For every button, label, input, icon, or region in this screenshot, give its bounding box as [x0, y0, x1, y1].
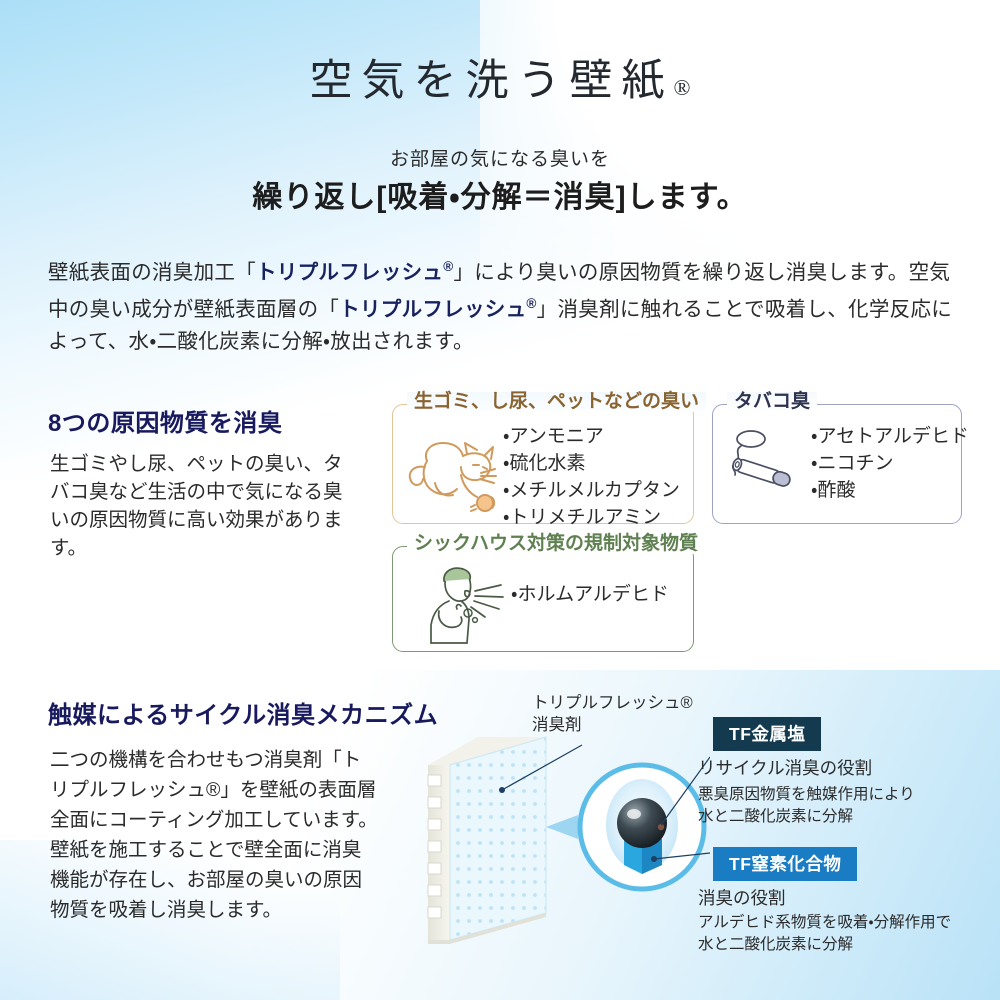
cause-box-waste-pets-legend: 生ゴミ、し尿、ペットなどの臭い [407, 392, 706, 412]
list-item: ・ニコチン [811, 450, 969, 477]
brand-name-2: トリプルフレッシュ [339, 298, 526, 321]
registered-mark-icon: ® [674, 75, 691, 100]
coughing-person-icon [411, 563, 507, 647]
list-item: ・硫化水素 [503, 450, 680, 477]
list-item: ・酢酸 [811, 477, 969, 504]
role-tf-metal-salt: リサイクル消臭の役割 [698, 756, 872, 780]
section-body-mechanism: 二つの機構を合わせもつ消臭剤「トリプルフレッシュ®」を壁紙の表面層全面にコーティ… [50, 745, 380, 925]
cause-box-sick-house: シックハウス対策の規制対象物質 [392, 546, 694, 652]
list-item: ・アセトアルデヒド [811, 423, 969, 450]
registered-mark-icon: ® [443, 259, 453, 274]
desc-line: 悪臭原因物質を触媒作用により [698, 784, 915, 806]
desc-tf-nitrogen-compound: アルデヒド系物質を吸着・分解作用で 水と二酸化炭素に分解 [698, 912, 951, 956]
desc-line: アルデヒド系物質を吸着・分解作用で [698, 912, 951, 934]
cause-box-tobacco-legend: タバコ臭 [727, 392, 817, 412]
diagram-caption: トリプルフレッシュ® 消臭剤 [532, 692, 693, 736]
section-body-causes: 生ゴミやし尿、ペットの臭い、タバコ臭など生活の中で気になる臭いの原因物質に高い効… [50, 450, 350, 562]
cause-box-sick-house-items: ・ホルムアルデヒド [511, 581, 669, 608]
page-title: 空気を洗う壁紙® [0, 46, 1000, 108]
list-item: ・ホルムアルデヒド [511, 581, 669, 608]
cause-box-sick-house-legend: シックハウス対策の規制対象物質 [407, 534, 705, 554]
diagram-caption-line2: 消臭剤 [532, 714, 693, 736]
mechanism-diagram: トリプルフレッシュ® 消臭剤 [410, 690, 1000, 980]
desc-line: 水と二酸化炭素に分解 [698, 806, 915, 828]
role-tf-nitrogen-compound: 消臭の役割 [698, 886, 786, 910]
section-heading-causes: 8つの原因物質を消臭 [48, 403, 282, 438]
list-item: ・トリメチルアミン [503, 504, 680, 531]
desc-tf-metal-salt: 悪臭原因物質を触媒作用により 水と二酸化炭素に分解 [698, 784, 915, 828]
cause-box-waste-pets: 生ゴミ、し尿、ペットなどの臭い [392, 404, 694, 524]
page-title-text: 空気を洗う壁紙 [310, 58, 674, 105]
registered-mark-icon: ® [526, 296, 536, 311]
subtitle-main: 繰り返し[吸着・分解＝消臭]します。 [0, 172, 1000, 216]
lead-paragraph: 壁紙表面の消臭加工「トリプルフレッシュ®」により臭いの原因物質を繰り返し消臭しま… [48, 251, 960, 359]
cause-box-waste-pets-items: ・アンモニア ・硫化水素 ・メチルメルカプタン ・トリメチルアミン [503, 423, 680, 531]
cigarette-smoke-icon [723, 427, 807, 499]
lead-part-1: 壁紙表面の消臭加工「 [48, 260, 256, 283]
brand-name-1: トリプルフレッシュ [256, 260, 443, 283]
cause-box-tobacco: タバコ臭 ・アセトアルデヒド ・ニコチン ・酢酸 [712, 404, 962, 524]
cause-box-tobacco-items: ・アセトアルデヒド ・ニコチン ・酢酸 [811, 423, 969, 504]
wallpaper-cross-section-illustration [410, 735, 710, 980]
list-item: ・メチルメルカプタン [503, 477, 680, 504]
section-heading-mechanism: 触媒によるサイクル消臭メカニズム [48, 695, 438, 730]
badge-tf-metal-salt: TF金属塩 [713, 717, 821, 751]
cat-playing-icon [399, 423, 503, 515]
list-item: ・アンモニア [503, 423, 680, 450]
diagram-caption-line1: トリプルフレッシュ® [532, 692, 693, 714]
desc-line: 水と二酸化炭素に分解 [698, 934, 951, 956]
badge-tf-nitrogen-compound: TF窒素化合物 [713, 847, 857, 881]
subtitle-small: お部屋の気になる臭いを [0, 144, 1000, 171]
